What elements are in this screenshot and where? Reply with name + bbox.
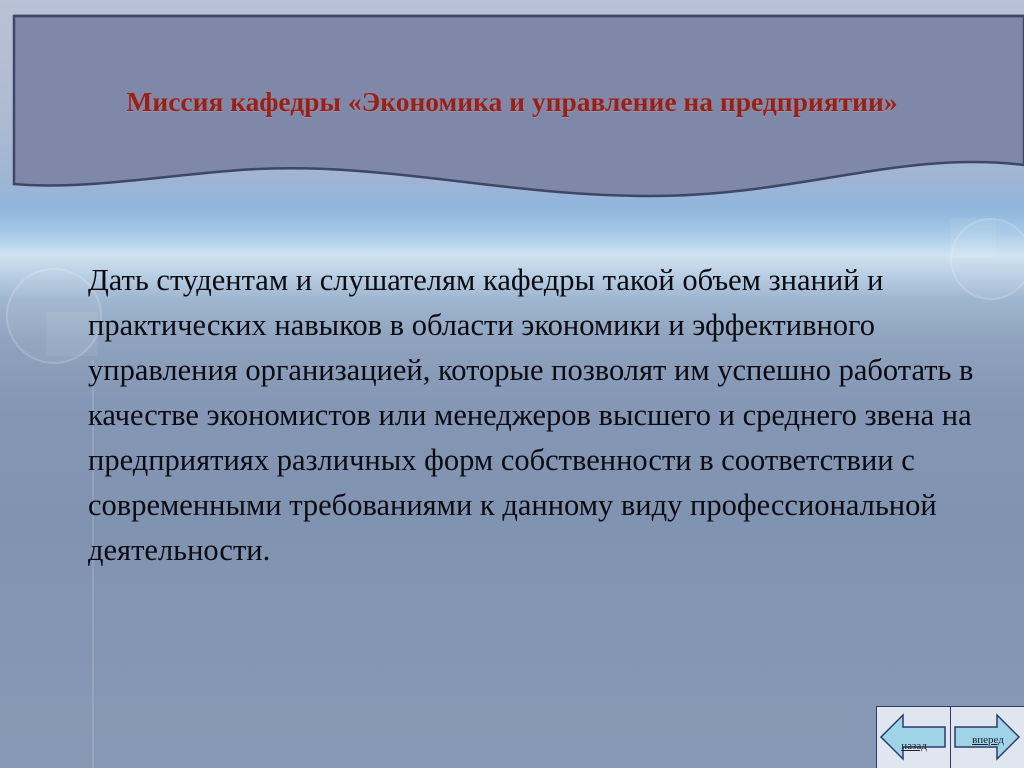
back-button[interactable]: назад bbox=[876, 706, 952, 768]
body-text: Дать студентам и слушателям кафедры тако… bbox=[88, 258, 988, 573]
page-title: Миссия кафедры «Экономика и управление н… bbox=[0, 86, 1024, 118]
decorative-bar-right bbox=[950, 218, 996, 258]
back-button-label: назад bbox=[877, 740, 951, 752]
body-paragraph: Дать студентам и слушателям кафедры тако… bbox=[88, 258, 988, 573]
left-arrow-icon bbox=[877, 707, 949, 767]
forward-button-label: вперед bbox=[951, 734, 1024, 746]
navigation-buttons: назад вперед bbox=[876, 706, 1024, 768]
slide-canvas: Миссия кафедры «Экономика и управление н… bbox=[0, 0, 1024, 768]
forward-button[interactable]: вперед bbox=[950, 706, 1024, 768]
